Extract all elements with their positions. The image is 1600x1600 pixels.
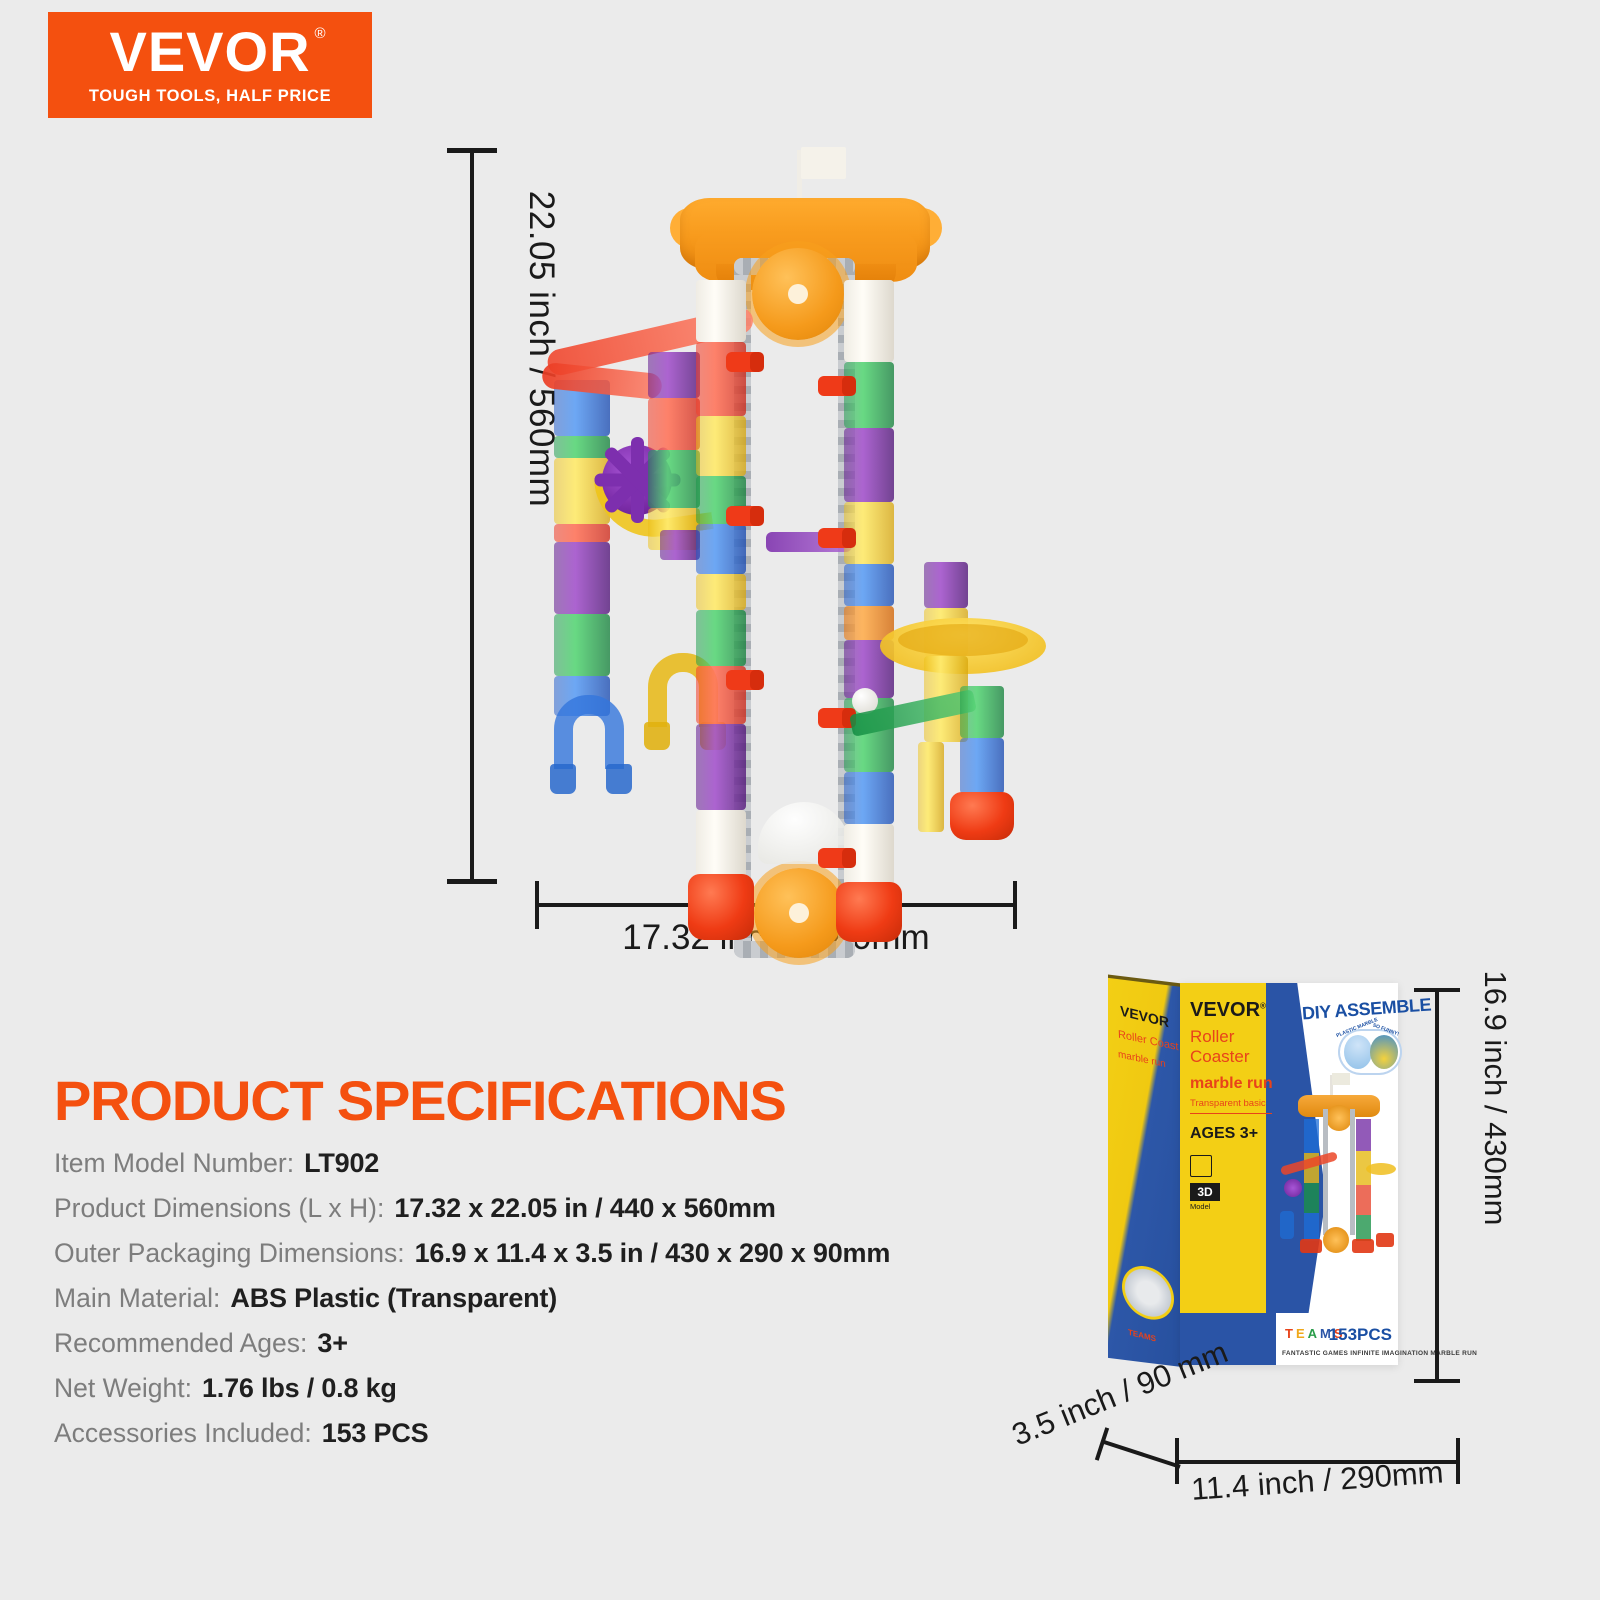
mini-tube xyxy=(1304,1213,1319,1241)
spec-value: 1.76 lbs / 0.8 kg xyxy=(202,1373,397,1404)
mini-red-base xyxy=(1352,1239,1374,1253)
box-spine-title: Roller Coast xyxy=(1118,1028,1179,1053)
product-height-dimension-cap-top xyxy=(447,148,497,153)
spec-value: LT902 xyxy=(304,1148,379,1179)
mini-red-base xyxy=(1376,1233,1394,1247)
vevor-logo-wordmark: VEVOR® xyxy=(109,24,310,80)
red-base xyxy=(836,882,902,942)
tube-segment xyxy=(648,450,700,508)
page-title: PRODUCT SPECIFICATIONS xyxy=(54,1068,786,1133)
spec-value: 17.32 x 22.05 in / 440 x 560mm xyxy=(394,1193,775,1224)
box-3d-badge: 3D xyxy=(1190,1183,1220,1201)
package-height-dimension-cap-top xyxy=(1414,988,1460,992)
safety-certification-icon xyxy=(1190,1155,1212,1177)
box-3d-badge-label: Model xyxy=(1190,1202,1210,1211)
connector-clip xyxy=(726,506,762,526)
mini-sprocket-bottom xyxy=(1323,1227,1349,1253)
package-height-label: 16.9 inch / 430mm xyxy=(1475,948,1515,1248)
tube-segment xyxy=(696,524,746,574)
ship-wheel-badge-icon xyxy=(1370,1035,1398,1069)
box-front-panel: VEVOR® Roller Coaster marble run Transpa… xyxy=(1180,983,1398,1365)
tube-segment xyxy=(554,436,610,458)
connector-clip xyxy=(818,848,854,868)
spec-label: Main Material: xyxy=(54,1283,220,1314)
red-base xyxy=(688,874,754,940)
box-brand: VEVOR® xyxy=(1190,999,1266,1022)
mini-tube xyxy=(1356,1215,1371,1241)
mini-red-base xyxy=(1300,1239,1322,1253)
tube-segment xyxy=(844,564,894,606)
mini-tube xyxy=(1304,1119,1319,1153)
mini-tube xyxy=(1356,1185,1371,1215)
mini-sprocket xyxy=(1326,1105,1352,1131)
spec-row: Product Dimensions (L x H):17.32 x 22.05… xyxy=(54,1193,954,1224)
leg-foot xyxy=(550,764,576,794)
flag-icon xyxy=(801,147,846,179)
fork-leg-blue xyxy=(554,695,624,769)
tube-segment xyxy=(554,542,610,614)
spec-label: Item Model Number: xyxy=(54,1148,294,1179)
spec-value: 153 PCS xyxy=(322,1418,429,1449)
box-divider xyxy=(1190,1113,1272,1114)
tube-segment xyxy=(696,810,746,878)
tube-segment xyxy=(960,686,1004,738)
box-spine-subtitle: marble run xyxy=(1118,1049,1166,1070)
spec-value: 16.9 x 11.4 x 3.5 in / 430 x 290 x 90mm xyxy=(415,1238,891,1269)
box-side-panel: VEVOR Roller Coast marble run TEAMS xyxy=(1108,978,1182,1367)
leg-foot xyxy=(644,722,670,750)
spec-row: Net Weight:1.76 lbs / 0.8 kg xyxy=(54,1373,954,1404)
vevor-logo-text: VEVOR xyxy=(109,20,310,83)
red-base xyxy=(950,792,1014,840)
spec-label: Recommended Ages: xyxy=(54,1328,307,1359)
tube-segment xyxy=(696,574,746,610)
spec-row: Accessories Included:153 PCS xyxy=(54,1418,954,1449)
product-height-dimension-line xyxy=(470,148,474,884)
tube-segment xyxy=(696,610,746,666)
marble-run-product-photo xyxy=(520,130,1040,890)
package-depth-dimension-line xyxy=(1103,1440,1180,1469)
mini-chain-left xyxy=(1323,1109,1328,1235)
package-height-dimension-line xyxy=(1435,988,1439,1383)
box-product-subtitle: marble run xyxy=(1190,1075,1273,1093)
spec-value: ABS Plastic (Transparent) xyxy=(230,1283,557,1314)
spec-value: 3+ xyxy=(317,1328,347,1359)
tube-segment xyxy=(696,724,746,810)
mini-tube xyxy=(1304,1183,1319,1213)
tube-segment xyxy=(660,530,700,560)
tube-segment xyxy=(554,614,610,676)
spec-row: Item Model Number:LT902 xyxy=(54,1148,954,1179)
tube-segment xyxy=(648,352,700,398)
connector-clip xyxy=(818,708,854,728)
connector-clip xyxy=(818,528,854,548)
box-spine-brand: VEVOR xyxy=(1120,1002,1169,1030)
support-post xyxy=(918,742,944,832)
mini-turbine-icon xyxy=(1284,1179,1302,1197)
mini-chain-right xyxy=(1350,1109,1355,1235)
product-height-dimension-cap-bottom xyxy=(447,879,497,884)
tube-segment xyxy=(696,280,746,342)
yellow-bowl-inner xyxy=(898,624,1028,656)
piece-count-badge: 153PCS xyxy=(1329,1325,1392,1345)
connector-clip xyxy=(726,352,762,372)
connector-clip xyxy=(726,670,762,690)
spec-label: Net Weight: xyxy=(54,1373,192,1404)
registered-trademark-icon: ® xyxy=(314,26,326,41)
tube-segment xyxy=(554,524,610,542)
package-height-dimension-cap-bottom xyxy=(1414,1379,1460,1383)
tube-segment xyxy=(844,772,894,824)
mini-yellow-bowl xyxy=(1366,1163,1396,1175)
marble-icon xyxy=(1344,1035,1372,1069)
tube-segment xyxy=(696,416,746,476)
mini-fork-leg xyxy=(1280,1211,1294,1239)
mini-tube xyxy=(1356,1119,1371,1151)
connector-clip xyxy=(818,376,854,396)
sprocket-gear-top xyxy=(752,248,844,340)
tube-segment xyxy=(844,280,894,362)
box-age-rating: AGES 3+ xyxy=(1190,1125,1258,1143)
spec-row: Main Material:ABS Plastic (Transparent) xyxy=(54,1283,954,1314)
box-product-name: Roller Coaster xyxy=(1190,1027,1250,1067)
vevor-logo: VEVOR® TOUGH TOOLS, HALF PRICE xyxy=(48,12,372,118)
spec-label: Accessories Included: xyxy=(54,1418,312,1449)
product-packaging-photo: VEVOR Roller Coast marble run TEAMS VEVO… xyxy=(1100,965,1400,1385)
mini-flag-icon xyxy=(1332,1073,1350,1085)
package-width-dimension-cap-right xyxy=(1456,1438,1460,1484)
ship-wheel-icon xyxy=(1122,1260,1174,1325)
leg-foot xyxy=(606,764,632,794)
spec-row: Recommended Ages:3+ xyxy=(54,1328,954,1359)
tube-segment xyxy=(844,428,894,502)
tube-segment xyxy=(648,398,700,450)
box-tagline: FANTASTIC GAMES INFINITE IMAGINATION MAR… xyxy=(1282,1350,1477,1357)
specifications-list: Item Model Number:LT902Product Dimension… xyxy=(54,1148,954,1463)
vevor-logo-tagline: TOUGH TOOLS, HALF PRICE xyxy=(89,87,331,106)
tube-segment xyxy=(960,738,1004,794)
spec-label: Product Dimensions (L x H): xyxy=(54,1193,384,1224)
box-spine-teams-logo: TEAMS xyxy=(1128,1328,1156,1344)
sprocket-gear-bottom xyxy=(754,868,844,958)
box-variant-label: Transparent basic xyxy=(1190,1098,1266,1109)
spec-row: Outer Packaging Dimensions:16.9 x 11.4 x… xyxy=(54,1238,954,1269)
package-width-dimension-cap-left xyxy=(1175,1438,1179,1484)
spec-label: Outer Packaging Dimensions: xyxy=(54,1238,405,1269)
tube-segment xyxy=(924,562,968,608)
